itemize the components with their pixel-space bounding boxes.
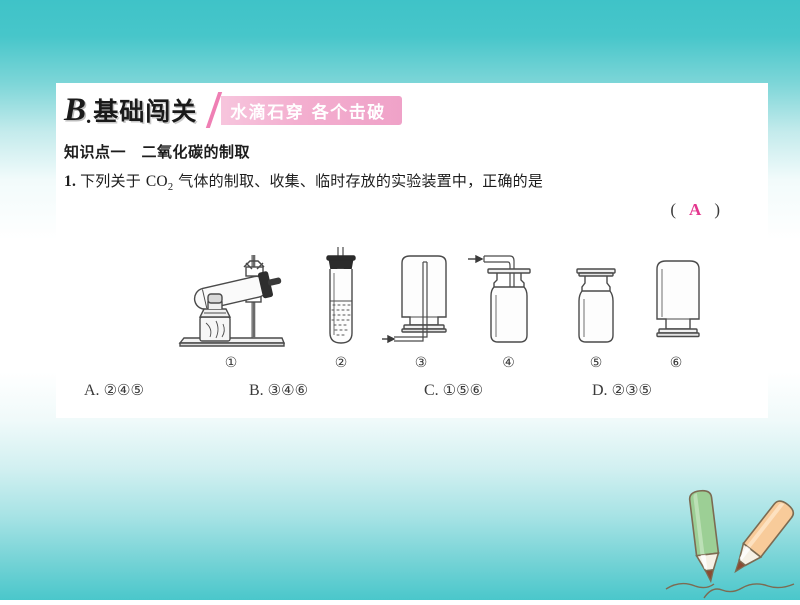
- option-c-letter: C.: [424, 382, 439, 400]
- option-a[interactable]: A. ②④⑤: [84, 381, 249, 400]
- answer-options-row: A. ②④⑤ B. ③④⑥ C. ①⑤⑥ D. ②③⑤: [84, 381, 744, 400]
- colored-pencils-icon: [662, 482, 800, 600]
- apparatus-figure-6: ⑥: [636, 247, 716, 370]
- option-d[interactable]: D. ②③⑤: [592, 381, 742, 400]
- inverted-bottle-with-bottom-inlet-tube-icon: [382, 247, 460, 355]
- apparatus-diagram-strip: ①: [166, 245, 746, 370]
- banner-title: 基础闯关: [93, 92, 197, 128]
- bracket-open: (: [670, 200, 676, 220]
- banner-slash-decoration: [204, 93, 225, 127]
- apparatus-label-1: ①: [166, 356, 296, 370]
- question-text-before: 下列关于: [80, 172, 146, 190]
- question-number: 1.: [64, 173, 76, 190]
- banner-badge: 水滴石穿 各个击破: [221, 96, 401, 125]
- option-d-value: ②③⑤: [612, 381, 652, 399]
- option-b[interactable]: B. ③④⑥: [249, 381, 424, 400]
- banner-letter: B: [64, 94, 85, 127]
- answer-bracket: ( A ): [670, 200, 720, 220]
- colored-pencils-decoration: [662, 482, 800, 600]
- apparatus-label-6: ⑥: [636, 356, 716, 370]
- option-b-letter: B.: [249, 382, 264, 400]
- bracket-close: ): [714, 200, 720, 220]
- option-a-letter: A.: [84, 382, 100, 400]
- apparatus-figure-4: ④: [466, 247, 551, 370]
- apparatus-figure-1: ①: [166, 247, 296, 370]
- upright-bottle-with-long-delivery-tube-icon: [466, 247, 551, 355]
- option-c-value: ①⑤⑥: [443, 381, 483, 399]
- apparatus-label-4: ④: [466, 356, 551, 370]
- inverted-bottle-with-glass-plate-icon: [641, 247, 711, 355]
- knowledge-point-heading: 知识点一 二氧化碳的制取: [64, 141, 250, 162]
- apparatus-figure-3: ③: [381, 247, 461, 370]
- option-c[interactable]: C. ①⑤⑥: [424, 381, 592, 400]
- question-text-after: 气体的制取、收集、临时存放的实验装置中，正确的是: [173, 172, 543, 190]
- question-stem: 1. 下列关于 CO2 气体的制取、收集、临时存放的实验装置中，正确的是: [64, 171, 758, 195]
- apparatus-figure-2: ②: [306, 247, 376, 370]
- answer-letter: A: [689, 200, 701, 220]
- formula-co2: CO2: [146, 173, 173, 190]
- test-tube-on-stand-with-alcohol-lamp-icon: [166, 247, 296, 355]
- stoppered-test-tube-with-delivery-tube-icon: [311, 247, 371, 355]
- option-d-letter: D.: [592, 382, 608, 400]
- content-card: B . 基础闯关 水滴石穿 各个击破 知识点一 二氧化碳的制取 1. 下列关于 …: [56, 83, 768, 418]
- banner-dot: .: [86, 104, 91, 131]
- apparatus-label-5: ⑤: [561, 356, 631, 370]
- apparatus-label-2: ②: [306, 356, 376, 370]
- option-a-value: ②④⑤: [104, 381, 144, 399]
- apparatus-figure-5: ⑤: [561, 247, 631, 370]
- formula-main: CO: [146, 173, 168, 190]
- apparatus-label-3: ③: [381, 356, 461, 370]
- banner-badge-text: 水滴石穿 各个击破: [230, 98, 385, 123]
- upright-bottle-with-glass-plate-icon: [565, 247, 627, 355]
- option-b-value: ③④⑥: [268, 381, 308, 399]
- section-banner: B . 基础闯关 水滴石穿 各个击破: [64, 89, 402, 131]
